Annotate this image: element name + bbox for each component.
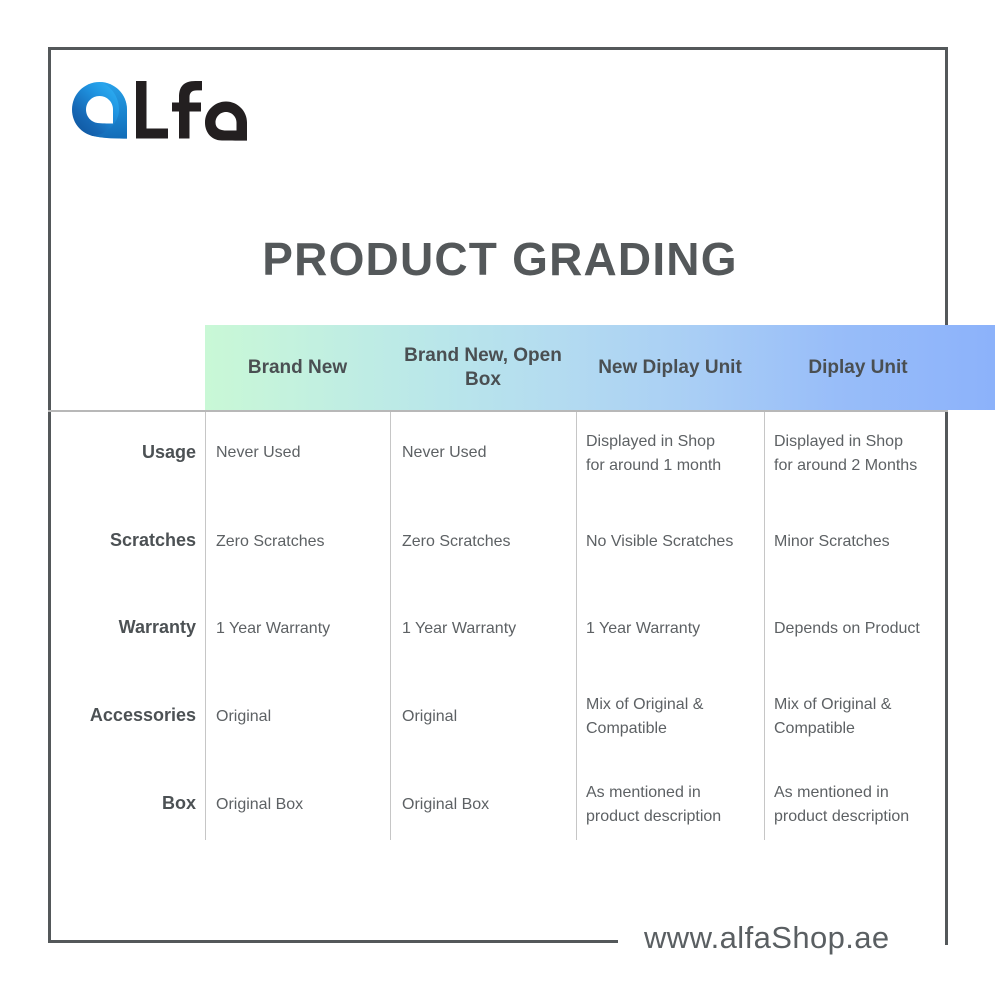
column-header-diplay-unit: Diplay Unit <box>764 325 952 410</box>
cell-box-diplay-unit: As mentioned in product description <box>774 781 964 828</box>
page-title: PRODUCT GRADING <box>0 232 1000 286</box>
column-header-brand-new: Brand New <box>205 325 390 410</box>
column-divider-1 <box>205 412 206 840</box>
column-header-new-diplay-unit: New Diplay Unit <box>576 325 764 410</box>
row-label-warranty: Warranty <box>48 617 196 638</box>
cell-scratches-brand-new: Zero Scratches <box>216 530 386 554</box>
cell-box-new-diplay-unit: As mentioned in product description <box>586 781 771 828</box>
cell-warranty-diplay-unit: Depends on Product <box>774 617 964 641</box>
frame-border-top <box>48 47 948 50</box>
droplet-a-icon <box>72 82 127 139</box>
cell-box-brand-new: Original Box <box>216 793 386 817</box>
cell-box-brand-new-open-box: Original Box <box>402 793 577 817</box>
cell-usage-diplay-unit: Displayed in Shop for around 2 Months <box>774 430 964 477</box>
row-label-box: Box <box>48 793 196 814</box>
cell-scratches-brand-new-open-box: Zero Scratches <box>402 530 577 554</box>
cell-usage-new-diplay-unit: Displayed in Shop for around 1 month <box>586 430 766 477</box>
cell-scratches-new-diplay-unit: No Visible Scratches <box>586 530 771 554</box>
cell-warranty-brand-new: 1 Year Warranty <box>216 617 386 641</box>
header-bottom-rule <box>48 410 948 412</box>
cell-accessories-brand-new: Original <box>216 705 386 729</box>
row-label-usage: Usage <box>48 442 196 463</box>
frame-border-bottom <box>48 940 618 943</box>
row-label-scratches: Scratches <box>48 530 196 551</box>
cell-accessories-brand-new-open-box: Original <box>402 705 577 729</box>
logo-letter-f <box>172 81 202 139</box>
cell-usage-brand-new-open-box: Never Used <box>402 441 572 465</box>
alfa-logo-svg <box>68 78 268 150</box>
cell-usage-brand-new: Never Used <box>216 441 386 465</box>
row-label-accessories: Accessories <box>48 705 196 726</box>
cell-scratches-diplay-unit: Minor Scratches <box>774 530 959 554</box>
cell-accessories-diplay-unit: Mix of Original & Compatible <box>774 693 954 740</box>
column-divider-2 <box>390 412 391 840</box>
logo-letter-a <box>205 102 247 141</box>
website-url[interactable]: www.alfaShop.ae <box>636 920 898 956</box>
alfa-logo <box>68 78 268 150</box>
column-header-brand-new-open-box: Brand New, Open Box <box>390 325 576 410</box>
logo-letter-l <box>136 81 168 139</box>
cell-warranty-new-diplay-unit: 1 Year Warranty <box>586 617 766 641</box>
cell-accessories-new-diplay-unit: Mix of Original & Compatible <box>586 693 761 740</box>
cell-warranty-brand-new-open-box: 1 Year Warranty <box>402 617 577 641</box>
